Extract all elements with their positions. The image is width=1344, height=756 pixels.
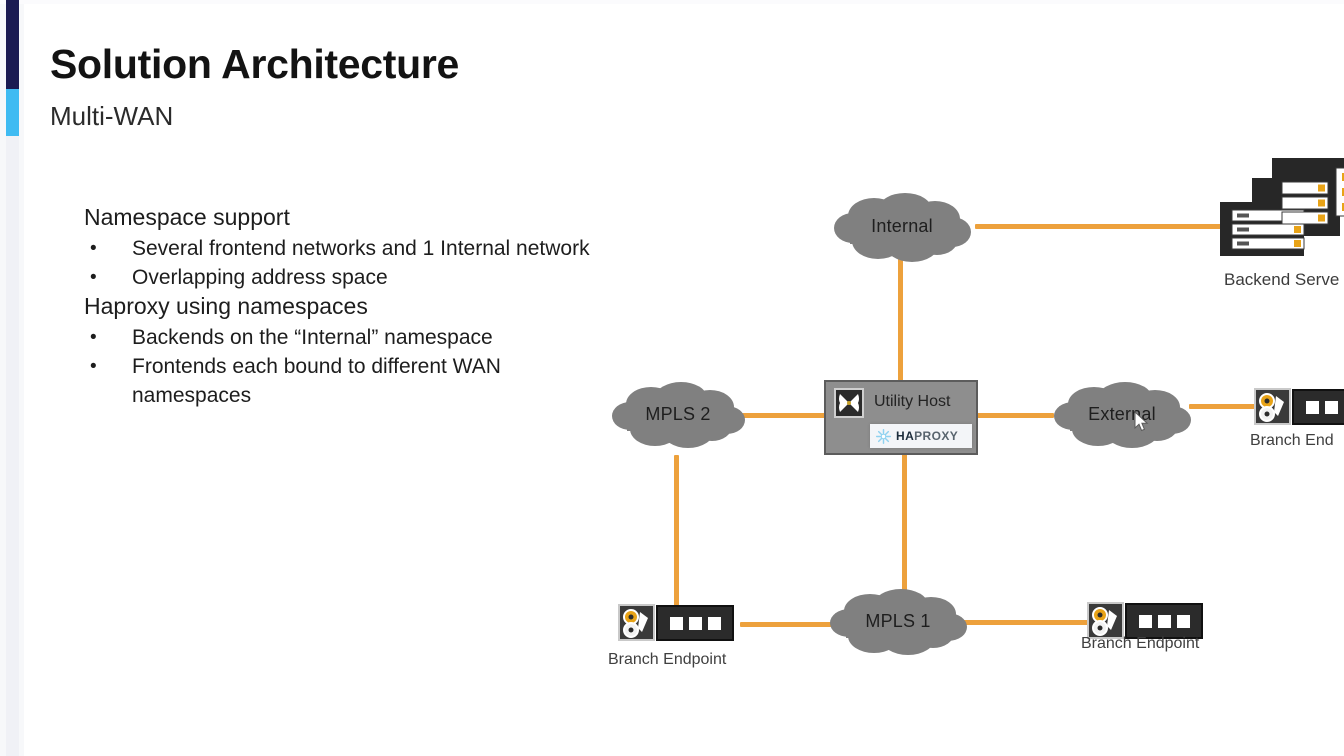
branch-endpoint-right-middle[interactable]: Branch End (1254, 388, 1344, 428)
branch-endpoint-led (1158, 615, 1171, 628)
utility-host-label: Utility Host (874, 393, 950, 411)
bullet-item-text: Several frontend networks and 1 Internal… (132, 234, 604, 263)
page-subtitle: Multi-WAN (50, 101, 173, 132)
branch-endpoint-led (1325, 401, 1338, 414)
haproxy-logo: HAPROXY (870, 424, 972, 448)
branch-endpoint-led (1177, 615, 1190, 628)
haproxy-wordmark: HAPROXY (896, 429, 958, 443)
utility-host-icon (834, 388, 864, 418)
accent-bar-blue (6, 89, 19, 136)
cloud-mpls-2[interactable]: MPLS 2 (610, 381, 746, 451)
accent-bar-pale (6, 136, 19, 756)
bullet-item-text: Frontends each bound to different WAN na… (132, 352, 604, 410)
bullet-item-text: Backends on the “Internal” namespace (132, 323, 604, 352)
branch-endpoint-led (689, 617, 702, 630)
branch-endpoint-badge-icon (618, 604, 655, 641)
slide-canvas: Solution Architecture Multi-WAN Namespac… (0, 0, 1344, 756)
bullet-item: • Frontends each bound to different WAN … (84, 352, 604, 410)
branch-endpoint-bottom-left-label: Branch Endpoint (608, 651, 726, 669)
branch-endpoint-led (670, 617, 683, 630)
branch-endpoint-bottom-right-label: Branch Endpoint (1081, 635, 1199, 653)
bullet-glyph: • (84, 323, 132, 352)
link-mpls1-to-branch-endpoint-bottom-right (962, 620, 1088, 625)
utility-host-node[interactable]: Utility Host HAPROXY (824, 380, 978, 455)
link-internal-to-backend-server (975, 224, 1223, 229)
bullet-glyph: • (84, 234, 132, 263)
bullet-group-heading-1: Namespace support (84, 203, 604, 232)
page-title: Solution Architecture (50, 41, 459, 88)
branch-endpoint-bottom-left[interactable]: Branch Endpoint (618, 604, 736, 644)
haproxy-wordmark-ha: HA (896, 429, 914, 443)
bullet-item-text: Overlapping address space (132, 263, 604, 292)
branch-endpoint-bottom-right[interactable]: Branch Endpoint (1087, 602, 1205, 642)
link-external-to-branch-endpoint-right (1189, 404, 1255, 409)
bullet-item: • Backends on the “Internal” namespace (84, 323, 604, 352)
cloud-internal[interactable]: Internal (832, 192, 972, 264)
bullet-item: • Several frontend networks and 1 Intern… (84, 234, 604, 263)
cloud-mpls-1[interactable]: MPLS 1 (828, 588, 968, 658)
branch-endpoint-led (1306, 401, 1319, 414)
branch-endpoint-body (1125, 603, 1203, 639)
bullet-glyph: • (84, 352, 132, 410)
accent-bar-navy (6, 0, 19, 89)
haproxy-snowflake-icon (875, 428, 892, 445)
link-internal-to-utility-host (898, 255, 903, 383)
branch-endpoint-body (656, 605, 734, 641)
cloud-external-label: External (1052, 381, 1192, 451)
cloud-mpls-1-label: MPLS 1 (828, 588, 968, 658)
branch-endpoint-led (1139, 615, 1152, 628)
cloud-internal-label: Internal (832, 192, 972, 264)
branch-endpoint-body (1292, 389, 1344, 425)
link-mpls2-to-branch-endpoint-bottom-left (674, 455, 679, 617)
branch-endpoint-led (708, 617, 721, 630)
haproxy-wordmark-proxy: PROXY (914, 429, 958, 443)
cloud-mpls-2-label: MPLS 2 (610, 381, 746, 451)
bullet-list: Namespace support • Several frontend net… (84, 203, 604, 410)
branch-endpoint-badge-icon (1254, 388, 1291, 425)
slide-top-edge (0, 0, 1344, 4)
branch-endpoint-badge-icon (1087, 602, 1124, 639)
cloud-external[interactable]: External (1052, 381, 1192, 451)
branch-endpoint-right-middle-label: Branch End (1250, 432, 1334, 450)
backend-server-label: Backend Serve (1224, 270, 1339, 290)
link-mpls2-to-utility-host (742, 413, 828, 418)
link-branch-endpoint-bottom-left-to-mpls1 (740, 622, 832, 627)
bullet-group-heading-2: Haproxy using namespaces (84, 292, 604, 321)
backend-server-icon[interactable] (1212, 158, 1344, 258)
bullet-item: • Overlapping address space (84, 263, 604, 292)
bullet-glyph: • (84, 263, 132, 292)
link-utility-host-to-external (974, 413, 1054, 418)
